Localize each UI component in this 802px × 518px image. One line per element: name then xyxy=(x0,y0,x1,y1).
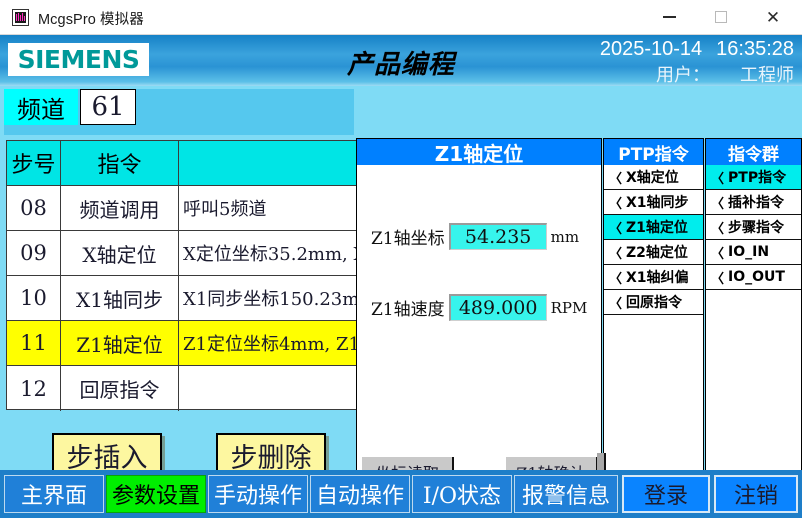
cell-command: Z1轴定位 xyxy=(61,321,179,365)
user-value: 工程师 xyxy=(740,61,794,87)
user-label: 用户： xyxy=(656,61,710,87)
z1-speed-field-group: Z1轴速度 489.000 RPM xyxy=(371,294,587,321)
chevron-left-icon: 〈 xyxy=(609,268,622,287)
nav-item-auto-operation[interactable]: 自动操作 xyxy=(310,475,410,513)
z1-coordinate-field-group: Z1轴坐标 54.235 mm xyxy=(371,223,579,250)
group-item-ptp-selected[interactable]: 〈 PTP指令 xyxy=(706,165,801,190)
instruction-group-panel: 指令群 〈 PTP指令 〈 插补指令 〈 步骤指令 〈 IO_IN 〈 IO_O… xyxy=(705,138,802,493)
z1-speed-label: Z1轴速度 xyxy=(371,295,445,320)
group-item-io-out[interactable]: 〈 IO_OUT xyxy=(706,265,801,290)
chevron-left-icon: 〈 xyxy=(711,243,724,262)
cell-detail: X1同步坐标150.23m xyxy=(179,276,357,320)
channel-strip: 频道 61 xyxy=(4,89,354,135)
chevron-left-icon: 〈 xyxy=(609,193,622,212)
app-icon xyxy=(12,9,29,26)
window-titlebar: McgsPro 模拟器 ✕ xyxy=(0,0,802,35)
chevron-left-icon: 〈 xyxy=(609,168,622,187)
ptp-instruction-panel: PTP指令 〈 X轴定位 〈 X1轴同步 〈 Z1轴定位 〈 Z2轴定位 〈 X… xyxy=(603,138,704,493)
channel-label: 频道 xyxy=(4,89,78,125)
cell-command: X1轴同步 xyxy=(61,276,179,320)
nav-item-main[interactable]: 主界面 xyxy=(4,475,104,513)
column-header-step-no: 步号 xyxy=(7,141,61,185)
user-display: 用户： 工程师 xyxy=(656,61,794,87)
datetime-display: 2025-10-14 16:35:28 xyxy=(600,38,794,61)
hmi-screen: SIEMENS 产品编程 2025-10-14 16:35:28 用户： 工程师… xyxy=(0,35,802,518)
window-title: McgsPro 模拟器 xyxy=(38,8,144,29)
cell-detail: X定位坐标35.2mm, X xyxy=(179,231,357,275)
z1-speed-input[interactable]: 489.000 xyxy=(449,294,547,321)
cell-step-no: 12 xyxy=(7,366,61,411)
cell-command: X轴定位 xyxy=(61,231,179,275)
chevron-left-icon: 〈 xyxy=(711,268,724,287)
chevron-left-icon: 〈 xyxy=(711,193,724,212)
z1-speed-unit: RPM xyxy=(551,299,588,317)
ptp-item-z2-axis[interactable]: 〈 Z2轴定位 xyxy=(604,240,703,265)
nav-item-io-status[interactable]: I/O状态 xyxy=(412,475,512,513)
group-panel-title: 指令群 xyxy=(706,139,801,165)
group-item-interpolation[interactable]: 〈 插补指令 xyxy=(706,190,801,215)
z1-axis-dialog: Z1轴定位 Z1轴坐标 54.235 mm Z1轴速度 489.000 RPM … xyxy=(356,138,602,493)
chevron-left-icon: 〈 xyxy=(711,168,724,187)
app-window: McgsPro 模拟器 ✕ SIEMENS 产品编程 2025-10-14 16… xyxy=(0,0,802,518)
ptp-item-label: X轴定位 xyxy=(626,167,679,187)
cell-step-no: 11 xyxy=(7,321,61,365)
cell-detail: 呼叫5频道 xyxy=(179,186,357,230)
channel-value-field[interactable]: 61 xyxy=(80,89,136,125)
ptp-item-z1-axis-selected[interactable]: 〈 Z1轴定位 xyxy=(604,215,703,240)
group-item-io-in[interactable]: 〈 IO_IN xyxy=(706,240,801,265)
cell-command: 频道调用 xyxy=(61,186,179,230)
close-icon: ✕ xyxy=(766,9,780,26)
ptp-item-label: X1轴纠偏 xyxy=(626,267,689,287)
nav-item-logout[interactable]: 注销 xyxy=(714,475,798,513)
table-row[interactable]: 12 回原指令 xyxy=(7,366,357,411)
ptp-item-home[interactable]: 〈 回原指令 xyxy=(604,290,703,315)
cell-step-no: 08 xyxy=(7,186,61,230)
table-row[interactable]: 08 频道调用 呼叫5频道 xyxy=(7,186,357,231)
hmi-header: SIEMENS 产品编程 2025-10-14 16:35:28 用户： 工程师 xyxy=(0,35,802,86)
table-row[interactable]: 09 X轴定位 X定位坐标35.2mm, X xyxy=(7,231,357,276)
cell-step-no: 09 xyxy=(7,231,61,275)
cell-detail: Z1定位坐标4mm, Z1 xyxy=(179,321,357,365)
close-button[interactable]: ✕ xyxy=(750,0,796,34)
time-text: 16:35:28 xyxy=(716,38,794,61)
date-text: 2025-10-14 xyxy=(600,38,702,61)
bottom-navigation-bar: 主界面 参数设置 手动操作 自动操作 I/O状态 报警信息 登录 注销 xyxy=(0,470,802,518)
z1-coordinate-input[interactable]: 54.235 xyxy=(449,223,547,250)
group-item-step[interactable]: 〈 步骤指令 xyxy=(706,215,801,240)
ptp-item-label: X1轴同步 xyxy=(626,192,689,212)
nav-item-alarm-info[interactable]: 报警信息 xyxy=(514,475,618,513)
ptp-item-label: 回原指令 xyxy=(626,292,682,312)
nav-item-parameter-settings[interactable]: 参数设置 xyxy=(106,475,206,513)
ptp-panel-title: PTP指令 xyxy=(604,139,703,165)
table-body: 08 频道调用 呼叫5频道 09 X轴定位 X定位坐标35.2mm, X 10 … xyxy=(7,186,357,411)
z1-coordinate-label: Z1轴坐标 xyxy=(371,224,445,249)
group-item-label: IO_OUT xyxy=(728,269,785,285)
step-table: 步号 指令 08 频道调用 呼叫5频道 09 X轴定位 X定位坐标35.2mm,… xyxy=(6,140,358,410)
dialog-title: Z1轴定位 xyxy=(357,139,601,165)
chevron-left-icon: 〈 xyxy=(711,218,724,237)
group-item-label: 步骤指令 xyxy=(728,217,784,237)
ptp-item-label: Z1轴定位 xyxy=(626,217,688,237)
chevron-left-icon: 〈 xyxy=(609,293,622,312)
table-row-selected[interactable]: 11 Z1轴定位 Z1定位坐标4mm, Z1 xyxy=(7,321,357,366)
ptp-item-x1-sync[interactable]: 〈 X1轴同步 xyxy=(604,190,703,215)
nav-item-manual-operation[interactable]: 手动操作 xyxy=(208,475,308,513)
group-item-label: 插补指令 xyxy=(728,192,784,212)
chevron-left-icon: 〈 xyxy=(609,218,622,237)
column-header-detail xyxy=(179,141,357,185)
cell-detail xyxy=(179,366,357,411)
z1-coordinate-unit: mm xyxy=(551,228,579,246)
maximize-button[interactable] xyxy=(698,0,744,34)
maximize-icon xyxy=(715,11,727,23)
table-row[interactable]: 10 X1轴同步 X1同步坐标150.23m xyxy=(7,276,357,321)
minimize-button[interactable] xyxy=(646,0,692,34)
group-item-label: PTP指令 xyxy=(728,167,786,187)
cell-command: 回原指令 xyxy=(61,366,179,411)
ptp-item-label: Z2轴定位 xyxy=(626,242,688,262)
ptp-item-x-axis[interactable]: 〈 X轴定位 xyxy=(604,165,703,190)
cell-step-no: 10 xyxy=(7,276,61,320)
ptp-item-x1-correction[interactable]: 〈 X1轴纠偏 xyxy=(604,265,703,290)
column-header-command: 指令 xyxy=(61,141,179,185)
table-header-row: 步号 指令 xyxy=(7,141,357,186)
minimize-icon xyxy=(663,16,676,18)
chevron-left-icon: 〈 xyxy=(609,243,622,262)
nav-item-login[interactable]: 登录 xyxy=(622,475,710,513)
group-item-label: IO_IN xyxy=(728,244,769,260)
